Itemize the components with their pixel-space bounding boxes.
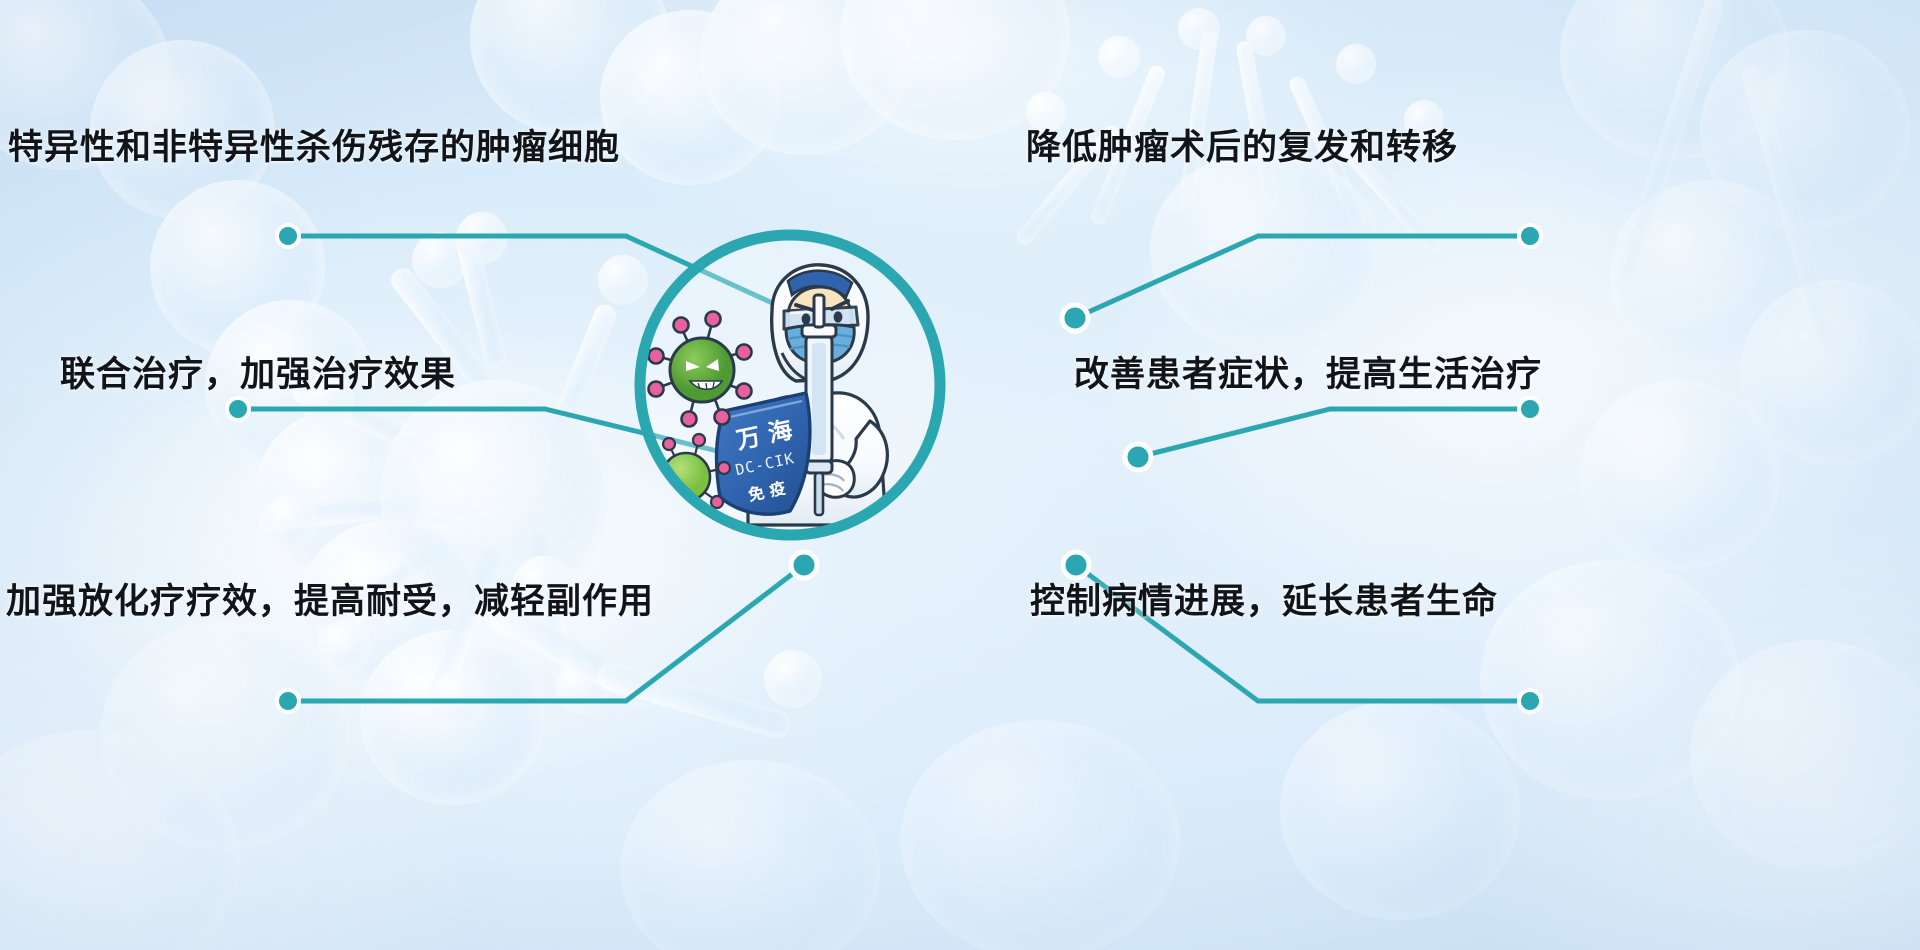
benefit-label-bottom-right: 控制病情进展，延长患者生命 [1030, 585, 1498, 620]
hub-dot-top-right [1062, 305, 1088, 331]
connector-dot-middle-left [227, 398, 249, 420]
connector-dot-bottom-right [1519, 690, 1541, 712]
connector-dot-bottom-left [277, 690, 299, 712]
benefit-label-top-right: 降低肿瘤术后的复发和转移 [1026, 131, 1458, 166]
connector-dot-middle-right [1519, 398, 1541, 420]
hub-dot-bottom-left [791, 552, 817, 578]
connector-top-right-path [1075, 236, 1530, 318]
infographic-canvas: 万 海 DC-CIK 免 疫 [0, 0, 1920, 950]
hub-dot-bottom-right [1063, 552, 1089, 578]
benefit-label-bottom-left: 加强放化疗疗效，提高耐受，减轻副作用 [6, 585, 654, 620]
center-hub: 万 海 DC-CIK 免 疫 [620, 225, 960, 545]
benefit-label-middle-right: 改善患者症状，提高生活治疗 [1074, 358, 1542, 393]
hub-dot-middle-right [1125, 444, 1151, 470]
connector-middle-right-path [1138, 409, 1530, 457]
brand-shield: 万 海 DC-CIK 免 疫 [717, 393, 810, 514]
benefit-label-top-left: 特异性和非特异性杀伤残存的肿瘤细胞 [8, 131, 620, 166]
benefit-label-middle-left: 联合治疗，加强治疗效果 [60, 358, 456, 393]
connector-dot-top-left [277, 225, 299, 247]
connector-dot-top-right [1519, 225, 1541, 247]
